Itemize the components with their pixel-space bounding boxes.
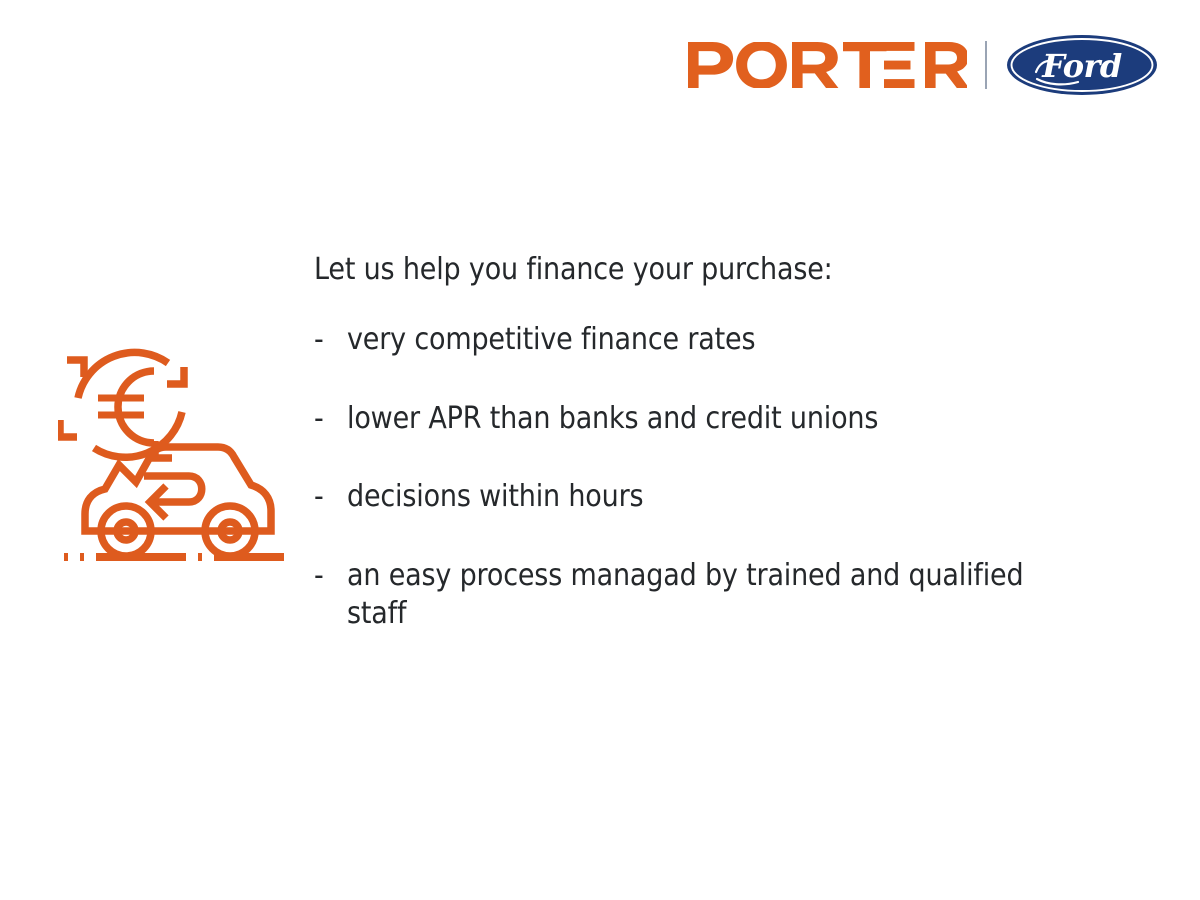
list-item: - lower APR than banks and credit unions xyxy=(314,400,1104,438)
ford-logo-icon: Ford xyxy=(1006,34,1158,96)
list-item-label: decisions within hours xyxy=(347,478,1028,516)
logo-lockup: Ford xyxy=(688,34,1158,96)
finance-copy-block: Let us help you finance your purchase: -… xyxy=(314,252,1104,633)
finance-benefits-list: - very competitive finance rates - lower… xyxy=(314,321,1104,633)
porter-wordmark-last-letter-icon xyxy=(925,42,967,88)
list-item-label: very competitive finance rates xyxy=(347,321,1028,359)
list-item: - decisions within hours xyxy=(314,478,1104,516)
list-item: - very competitive finance rates xyxy=(314,321,1104,359)
page-title: Let us help you finance your purchase: xyxy=(314,252,1025,287)
bullet-dash-marker: - xyxy=(314,557,344,595)
list-item-label: an easy process managad by trained and q… xyxy=(347,557,1028,634)
car-finance-illustration-icon xyxy=(58,326,294,568)
porter-wordmark-icon xyxy=(688,42,933,88)
svg-text:Ford: Ford xyxy=(1041,47,1122,85)
porter-wordmark xyxy=(688,42,967,88)
car-finance-icon xyxy=(58,326,294,568)
list-item: - an easy process managad by trained and… xyxy=(314,557,1104,634)
bullet-dash-marker: - xyxy=(314,321,344,359)
list-item-label: lower APR than banks and credit unions xyxy=(347,400,1028,438)
bullet-dash-marker: - xyxy=(314,478,344,516)
bullet-dash-marker: - xyxy=(314,400,344,438)
slide-canvas: Ford xyxy=(0,0,1200,900)
logo-divider xyxy=(985,41,987,89)
